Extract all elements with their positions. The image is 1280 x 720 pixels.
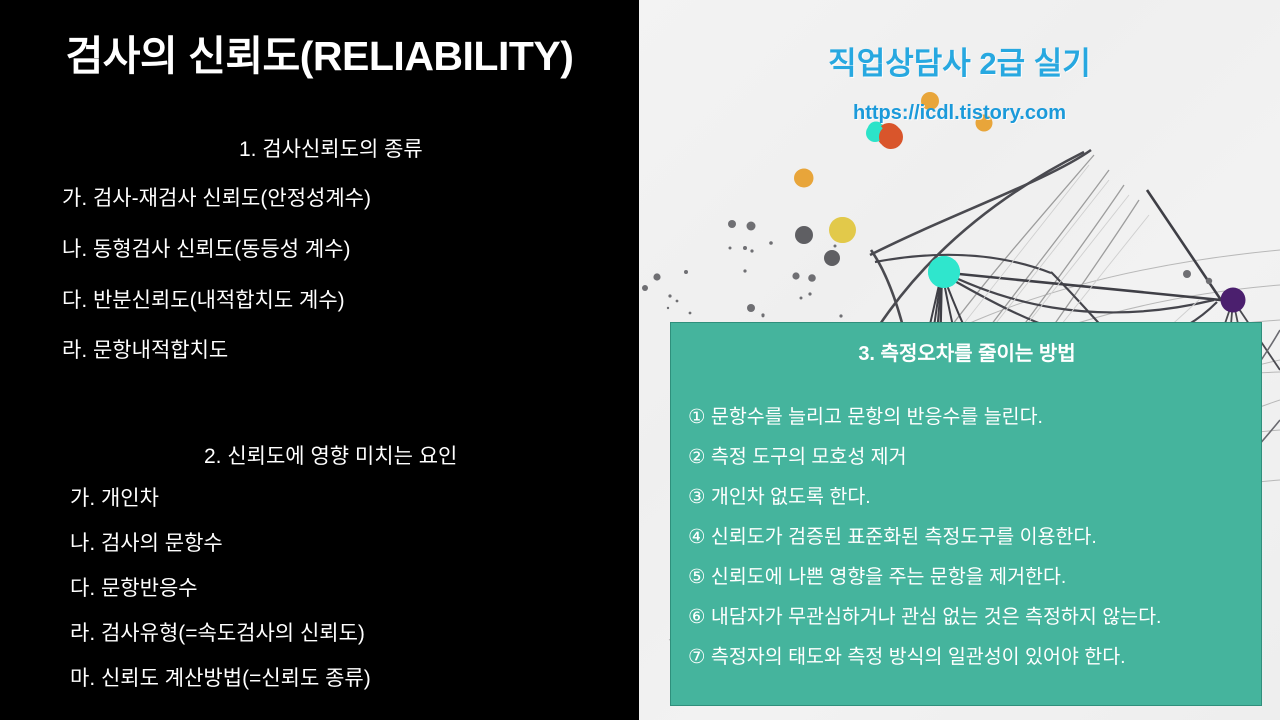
list-item: 라. 문항내적합치도	[62, 334, 228, 364]
teal-callout-box: 3. 측정오차를 줄이는 방법 ① 문항수를 늘리고 문항의 반응수를 늘린다.…	[670, 322, 1262, 706]
node-grey	[824, 250, 840, 266]
list-item: 가. 개인차	[70, 482, 159, 512]
list-item: ① 문항수를 늘리고 문항의 반응수를 늘린다.	[688, 397, 1262, 437]
list-item: ③ 개인차 없도록 한다.	[688, 477, 1262, 517]
section-heading-1: 1. 검사신뢰도의 종류	[239, 133, 423, 163]
list-item: 마. 신뢰도 계산방법(=신뢰도 종류)	[70, 662, 371, 692]
list-item: ⑦ 측정자의 태도와 측정 방식의 일관성이 있어야 한다.	[688, 637, 1262, 677]
list-item: ④ 신뢰도가 검증된 표준화된 측정도구를 이용한다.	[688, 517, 1262, 557]
left-content-panel: 검사의 신뢰도(RELIABILITY) 1. 검사신뢰도의 종류 가. 검사-…	[0, 0, 639, 720]
teal-box-list: ① 문항수를 늘리고 문항의 반응수를 늘린다. ② 측정 도구의 모호성 제거…	[688, 397, 1262, 677]
list-item: 다. 문항반응수	[70, 572, 198, 602]
list-item: 가. 검사-재검사 신뢰도(안정성계수)	[62, 182, 371, 212]
brand-url-link[interactable]: https://icdl.tistory.com	[639, 102, 1280, 125]
list-item: 나. 검사의 문항수	[70, 527, 223, 557]
presentation-slide: 검사의 신뢰도(RELIABILITY) 1. 검사신뢰도의 종류 가. 검사-…	[0, 0, 1280, 720]
list-item: 나. 동형검사 신뢰도(동등성 계수)	[62, 233, 350, 263]
list-item: 라. 검사유형(=속도검사의 신뢰도)	[70, 617, 365, 647]
teal-box-heading: 3. 측정오차를 줄이는 방법	[671, 337, 1262, 366]
list-item: ② 측정 도구의 모호성 제거	[688, 437, 1262, 477]
brand-title: 직업상담사 2급 실기	[639, 38, 1280, 83]
page-title: 검사의 신뢰도(RELIABILITY)	[0, 32, 639, 81]
list-item: 다. 반분신뢰도(내적합치도 계수)	[62, 284, 345, 314]
list-item: ⑤ 신뢰도에 나쁜 영향을 주는 문항을 제거한다.	[688, 557, 1262, 597]
section-heading-2: 2. 신뢰도에 영향 미치는 요인	[204, 440, 457, 470]
list-item: ⑥ 내담자가 무관심하거나 관심 없는 것은 측정하지 않는다.	[688, 597, 1262, 637]
